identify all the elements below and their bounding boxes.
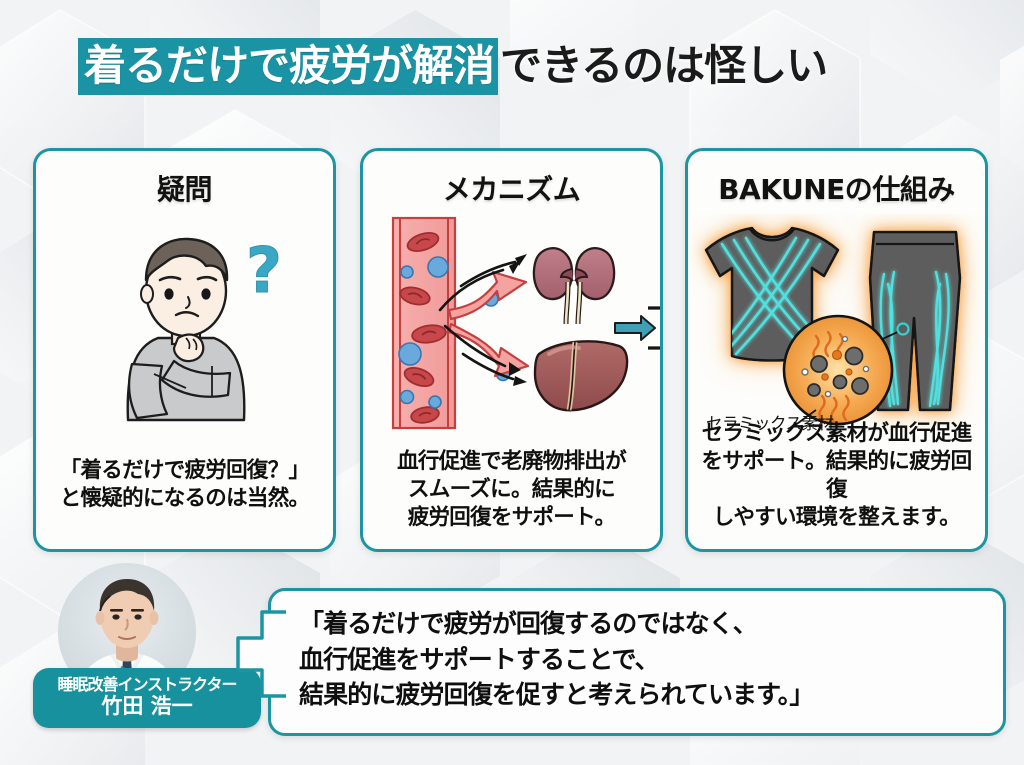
quote-line: 結果的に疲労回復を促すと考えられています。」 <box>299 677 1003 713</box>
card-body: 「着るだけで疲労回復？」 と懐疑的になるのは当然。 <box>36 457 333 513</box>
card-body-line: と懐疑的になるのは当然。 <box>43 485 326 513</box>
card-body-line: 「着るだけで疲労回復？」 <box>43 457 326 485</box>
blood-vessel-kidney-liver-diagram <box>363 214 660 432</box>
liver-icon <box>535 341 627 410</box>
excretion-arrow-icon <box>615 308 663 348</box>
quote-line: 血行促進をサポートすることで、 <box>299 642 1003 678</box>
card-title: メカニズム <box>363 168 660 208</box>
quote-text: 「着るだけで疲労が回復するのではなく、 血行促進をサポートすることで、 結果的に… <box>271 591 1003 713</box>
card-body-line: セラミックス素材が血行促進 <box>695 420 978 448</box>
kidney-icon <box>534 248 614 324</box>
card-body: 血行促進で老廃物排出が スムーズに。結果的に 疲労回復をサポート。 <box>363 448 660 532</box>
question-mark-icon: ? <box>246 234 282 307</box>
card-body-line: 血行促進で老廃物排出が <box>370 448 653 476</box>
card-mechanism[interactable]: メカニズム <box>360 148 663 552</box>
quote-line: 「着るだけで疲労が回復するのではなく、 <box>299 606 1003 642</box>
bakune-apparel-illustration: セラミックス素材 <box>688 214 985 432</box>
card-doubt[interactable]: 疑問 ? <box>33 148 336 552</box>
expert-name: 竹田 浩一 <box>41 694 253 719</box>
card-title: BAKUNEの仕組み <box>688 168 985 208</box>
card-title: 疑問 <box>36 168 333 208</box>
title-highlight: 着るだけで疲労が解消 <box>78 38 498 95</box>
card-bakune[interactable]: BAKUNEの仕組み <box>685 148 988 552</box>
expert-name-badge: 睡眠改善インストラクター 竹田 浩一 <box>33 668 261 728</box>
thinking-person-illustration: ? <box>36 214 333 432</box>
card-body-line: しやすい環境を整えます。 <box>695 504 978 532</box>
card-body-line: スムーズに。結果的に <box>370 476 653 504</box>
title-rest: できるのは怪しい <box>498 38 827 95</box>
card-body: セラミックス素材が血行促進 をサポート。結果的に疲労回復 しやすい環境を整えます… <box>688 420 985 532</box>
infographic-stage: 着るだけで疲労が解消 できるのは怪しい 疑問 ? <box>0 0 1024 765</box>
card-body-line: 疲労回復をサポート。 <box>370 504 653 532</box>
quote-bubble: 「着るだけで疲労が回復するのではなく、 血行促進をサポートすることで、 結果的に… <box>268 588 1006 736</box>
svg-text:?: ? <box>246 234 282 307</box>
card-body-line: をサポート。結果的に疲労回復 <box>695 448 978 504</box>
expert-role: 睡眠改善インストラクター <box>41 675 253 694</box>
page-title: 着るだけで疲労が解消 できるのは怪しい <box>78 38 827 95</box>
speech-bubble-tail <box>234 608 286 700</box>
